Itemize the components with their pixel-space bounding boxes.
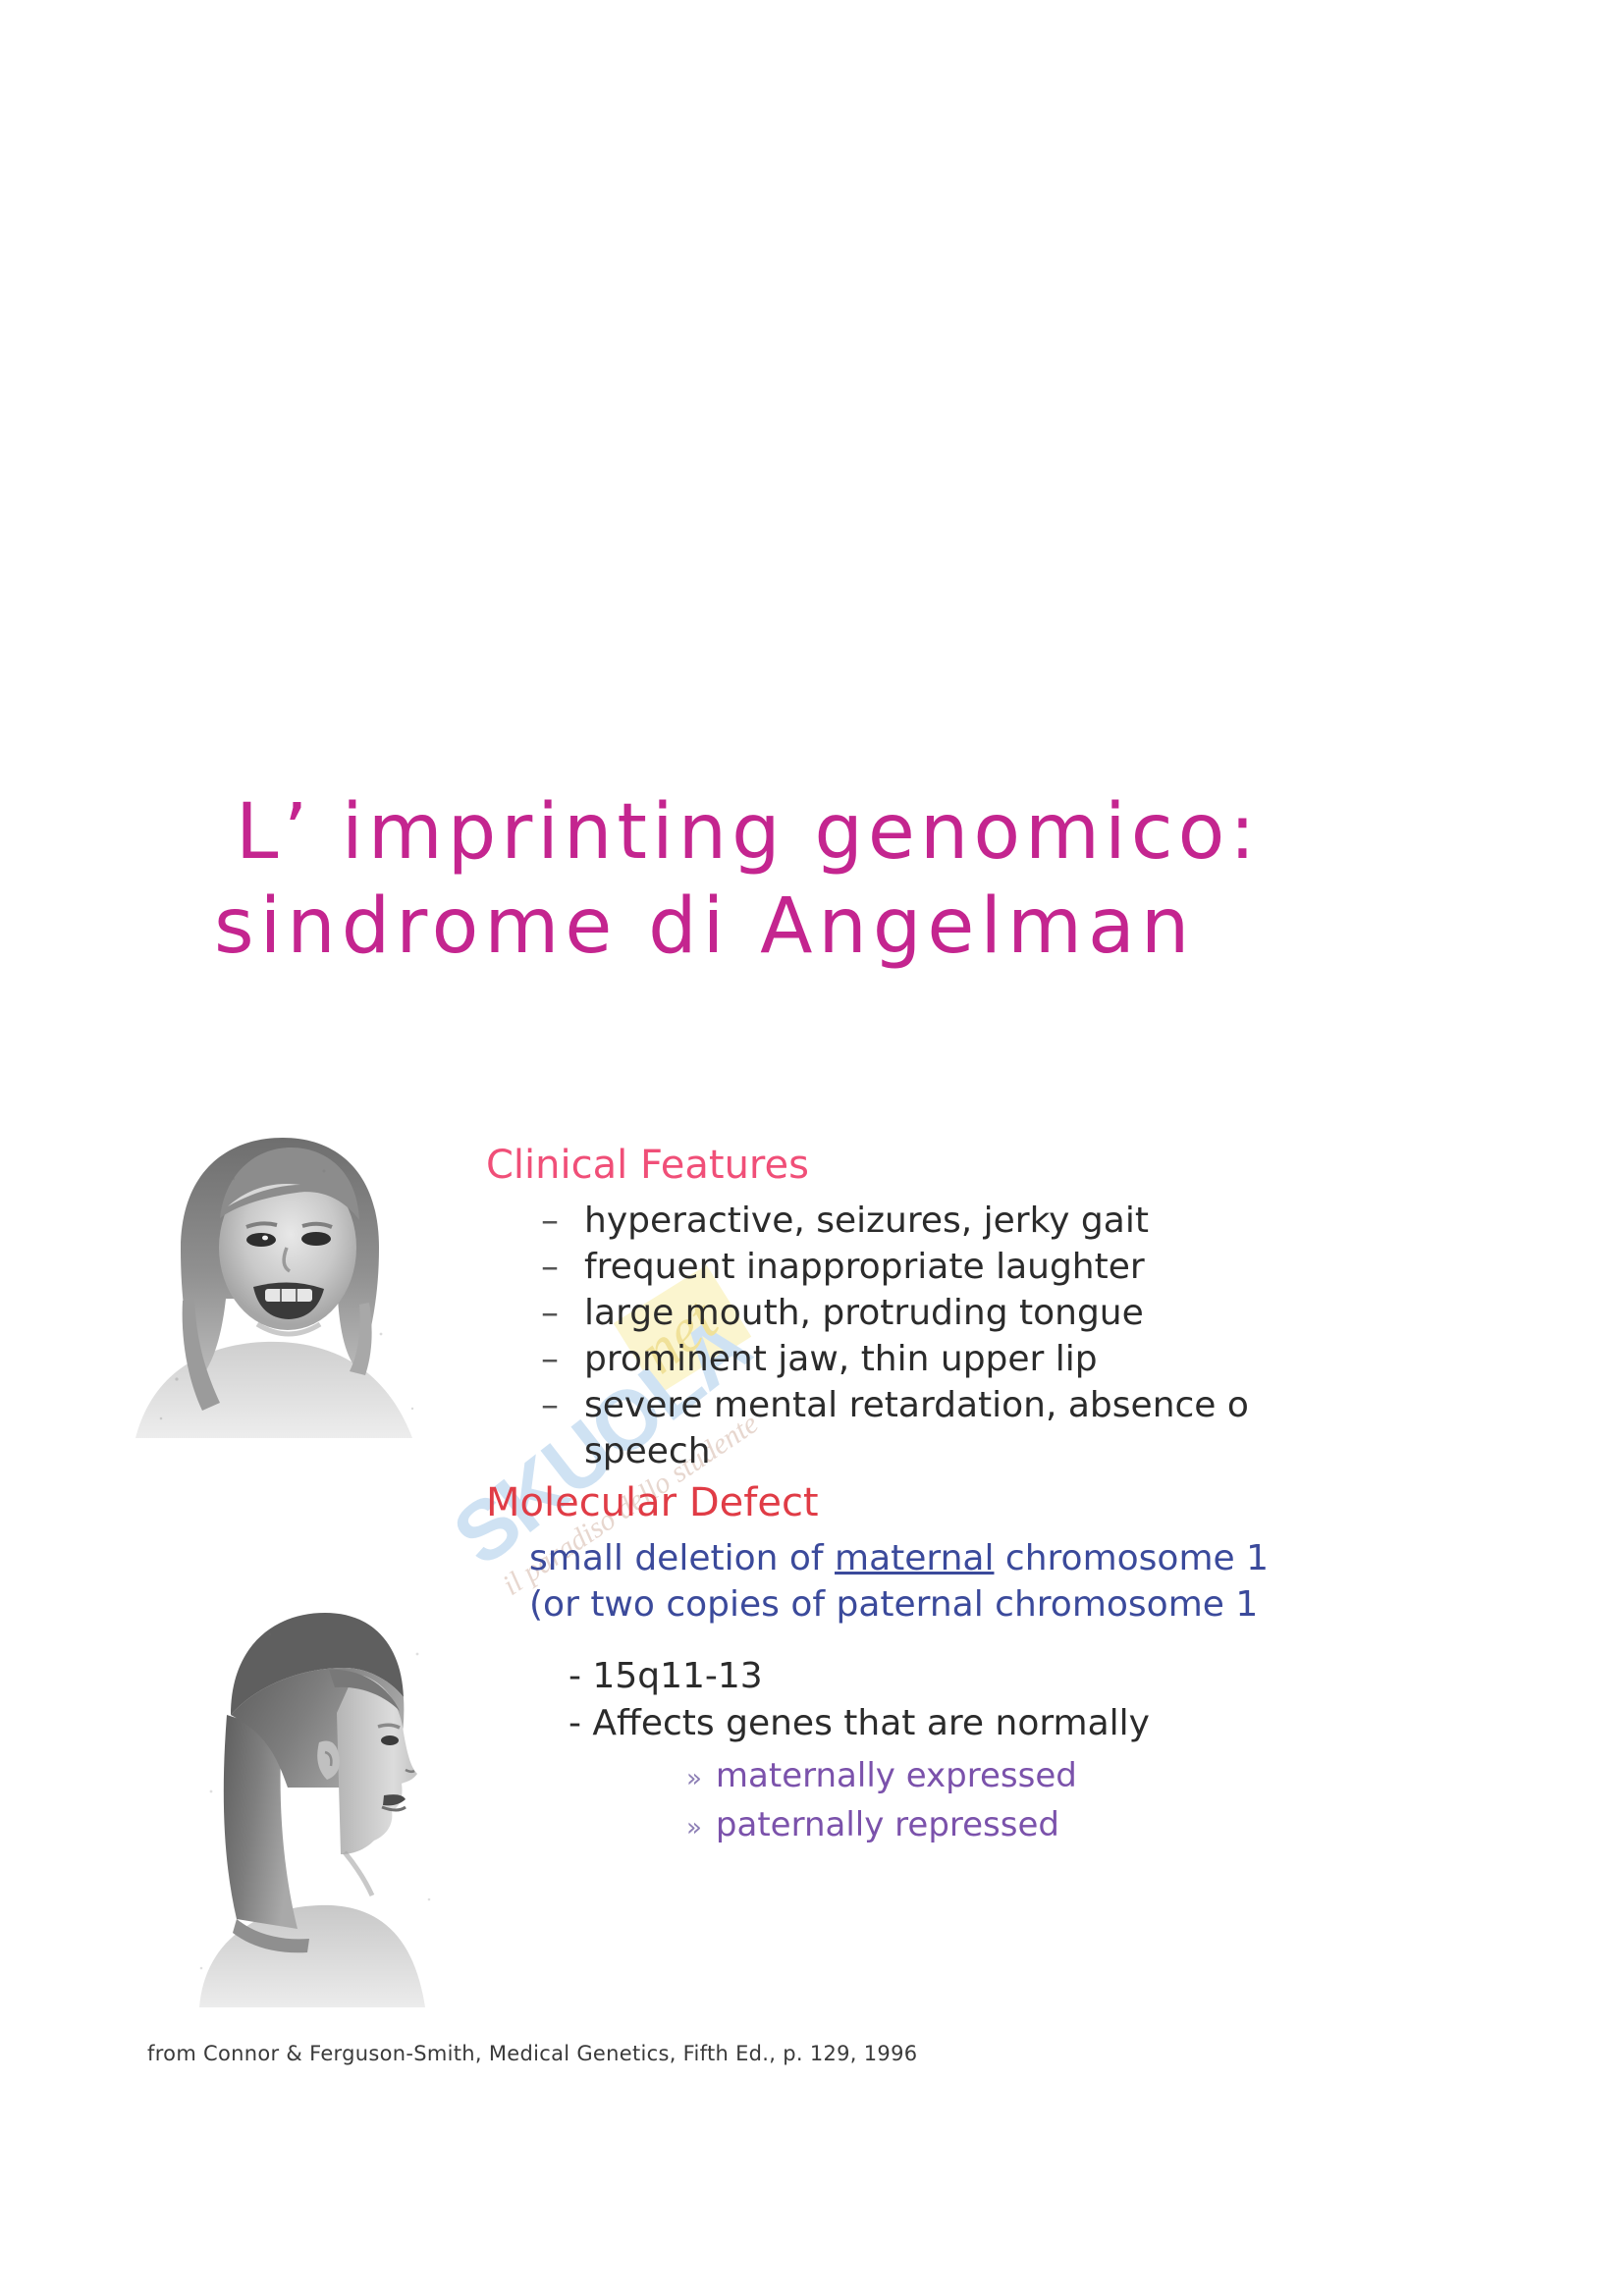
affects-line: - Affects genes that are normally <box>568 1700 1624 1747</box>
list-item-label: prominent jaw, thin upper lip <box>584 1339 1098 1379</box>
photo-frontal-portrait <box>118 1124 447 1438</box>
list-item-label: frequent inappropriate laughter <box>584 1247 1145 1287</box>
title-line-2: sindrome di Angelman <box>214 880 1624 974</box>
title-line-1: L’ imprinting genomico: <box>236 785 1624 880</box>
sub-list-item-label: paternally repressed <box>716 1805 1059 1844</box>
list-item: – prominent jaw, thin upper lip <box>541 1336 1624 1382</box>
molecular-line-1-underlined: maternal <box>835 1538 994 1578</box>
slide-body: Clinical Features – hyperactive, seizure… <box>486 1139 1624 1851</box>
clinical-features-heading: Clinical Features <box>486 1139 1624 1192</box>
molecular-line-1-pre: small deletion of <box>529 1538 835 1578</box>
bullet-dash-icon: – <box>541 1244 559 1290</box>
list-item: – large mouth, protruding tongue <box>541 1290 1624 1336</box>
source-citation: from Connor & Ferguson-Smith, Medical Ge… <box>147 2042 917 2065</box>
sub-list-item: »maternally expressed <box>686 1753 1624 1802</box>
locus-line: - 15q11-13 <box>568 1653 1624 1700</box>
list-item-label: large mouth, protruding tongue <box>584 1293 1144 1333</box>
imprinting-sub-list: »maternally expressed »paternally repres… <box>568 1753 1624 1851</box>
list-item-label: speech <box>584 1431 711 1471</box>
photo-frontal-graphic <box>118 1124 447 1438</box>
list-item: – frequent inappropriate laughter <box>541 1244 1624 1290</box>
document-page: SKUOLA net il paradiso dello studente L’… <box>0 0 1624 2296</box>
molecular-line-2: (or two copies of paternal chromosome 1 <box>529 1581 1624 1628</box>
list-item-label: hyperactive, seizures, jerky gait <box>584 1201 1149 1241</box>
bullet-dash-icon: – <box>541 1336 559 1382</box>
sub-list-item: »paternally repressed <box>686 1802 1624 1851</box>
list-item-label: severe mental retardation, absence o <box>584 1385 1249 1425</box>
list-item: – severe mental retardation, absence o <box>541 1382 1624 1428</box>
molecular-sub-block: - 15q11-13 - Affects genes that are norm… <box>486 1653 1624 1851</box>
slide-canvas: SKUOLA net il paradiso dello studente L’… <box>0 766 1624 2101</box>
molecular-defect-lines: small deletion of maternal chromosome 1 … <box>486 1535 1624 1628</box>
molecular-defect-heading: Molecular Defect <box>486 1476 1624 1529</box>
molecular-line-1-post: chromosome 1 <box>994 1538 1269 1578</box>
list-item: – hyperactive, seizures, jerky gait <box>541 1198 1624 1244</box>
bullet-dash-icon: – <box>541 1382 559 1428</box>
photo-profile-graphic <box>172 1595 457 2007</box>
bullet-dash-icon: – <box>541 1198 559 1244</box>
clinical-features-list: – hyperactive, seizures, jerky gait – fr… <box>486 1198 1624 1474</box>
bullet-dash-icon: – <box>541 1290 559 1336</box>
molecular-line-1: small deletion of maternal chromosome 1 <box>529 1535 1624 1581</box>
sub-list-item-label: maternally expressed <box>716 1756 1077 1795</box>
list-item-continuation: speech <box>541 1428 1624 1474</box>
slide-title: L’ imprinting genomico: sindrome di Ange… <box>236 785 1624 974</box>
guillemet-icon: » <box>686 1764 702 1793</box>
guillemet-icon: » <box>686 1813 702 1842</box>
photo-profile-portrait <box>172 1595 457 2007</box>
